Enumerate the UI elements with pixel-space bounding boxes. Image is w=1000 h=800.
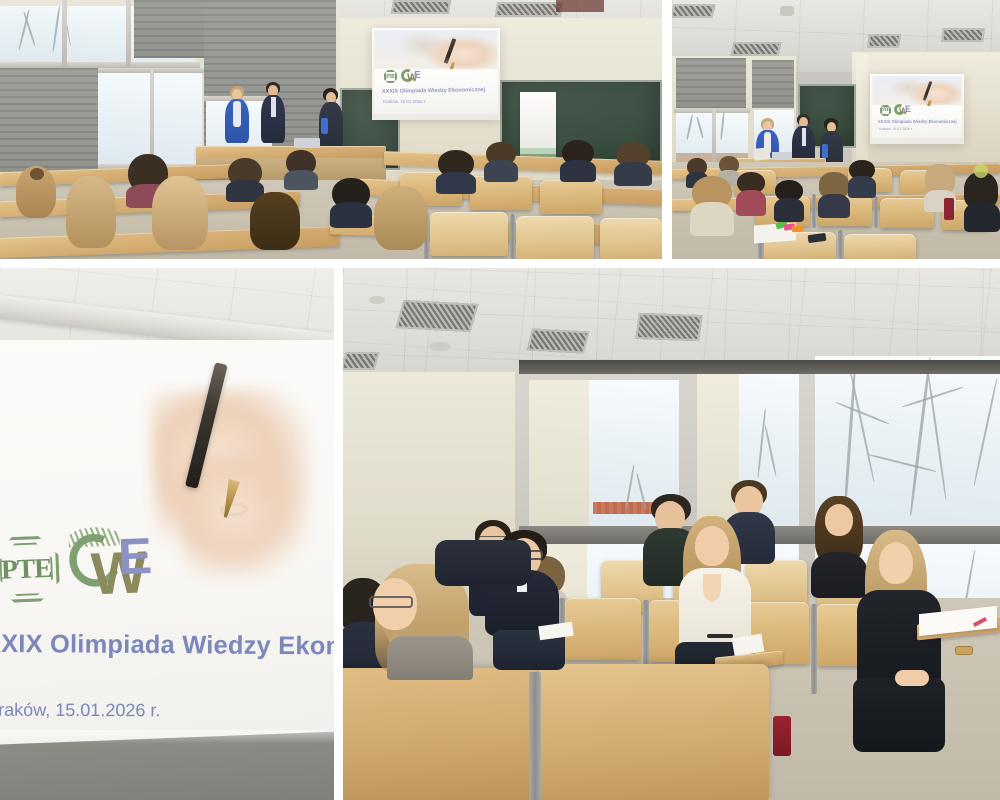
student: [560, 140, 596, 182]
photo-collage: PTE W E XXXIX Olimpiada Wiedzy Ekonomicz…: [0, 0, 1000, 800]
window-mullion: [62, 0, 67, 68]
window-blind: [676, 58, 746, 110]
student: [690, 176, 734, 236]
ceiling-vent-icon: [495, 2, 564, 17]
projected-slide: PTE W E XXXIX Olimpiada Wiedzy Ekonomicz…: [0, 340, 334, 748]
window-blind: [752, 60, 794, 108]
seat-front: [343, 668, 543, 800]
window-blind: [0, 68, 98, 172]
ceiling-vent-icon: [635, 313, 702, 341]
ceiling-vent-icon: [396, 300, 479, 332]
window-mullion: [126, 0, 131, 68]
ceiling-sensor: [429, 342, 451, 351]
presenter-dark-suit: [260, 82, 286, 148]
ceiling-sensor: [780, 6, 794, 16]
seat-front: [539, 664, 769, 800]
dark-trousers: [853, 678, 945, 752]
ceiling-vent-icon: [867, 34, 901, 48]
flipchart: [520, 92, 556, 154]
owe-letter-e: E: [117, 532, 153, 584]
projection-screen: PTE W E XXXIX Olimpiada Wiedzy Ekonomicz…: [372, 28, 500, 120]
student: [330, 178, 372, 228]
student: [848, 160, 876, 198]
laptop: [772, 152, 792, 160]
window-blind: [134, 0, 206, 58]
student: [152, 176, 210, 259]
screen-bottom-edge: [0, 730, 334, 744]
student: [736, 172, 766, 216]
slide-subtitle: Kraków, 15.01.2026 r.: [383, 99, 427, 104]
projection-screen: PTE W E XXXIX Olimpiada Wiedzy Ekonomicz…: [0, 340, 334, 748]
pte-logo: PTE: [0, 535, 60, 603]
ceiling-vent-icon: [527, 328, 590, 353]
student: [14, 166, 60, 236]
student: [818, 172, 850, 218]
grey-scarf: [387, 636, 473, 680]
ceiling-vent-icon: [731, 42, 782, 56]
seat: [600, 218, 662, 259]
collage-panel-bottom-left: PTE W E XXXIX Olimpiada Wiedzy Ekonomicz…: [0, 268, 334, 800]
seat: [516, 216, 594, 259]
seat: [565, 598, 641, 660]
ceiling-vent-icon: [941, 28, 984, 42]
ceiling-fixture: [556, 0, 604, 12]
presenter-dark-jacket: [318, 88, 344, 152]
student-girl-black: [853, 530, 949, 760]
student: [250, 192, 302, 259]
student: [436, 150, 476, 194]
slide-title: XXXIX Olimpiada Wiedzy Ekonomicznej: [382, 87, 485, 95]
highlighter-orange: [792, 226, 803, 233]
collage-panel-bottom-right: [343, 268, 1000, 800]
window-reveal: [529, 380, 589, 528]
window-head: [519, 360, 1000, 374]
seat: [540, 180, 602, 214]
projected-slide: PTE W E XXXIX Olimpiada Wiedzy Ekonomicz…: [872, 76, 962, 138]
projection-screen: PTE W E XXXIX Olimpiada Wiedzy Ekonomicz…: [870, 74, 964, 144]
owe-logo: W E: [66, 525, 164, 607]
student: [484, 142, 518, 182]
ceiling-sensor: [369, 296, 385, 304]
student: [774, 180, 804, 222]
glasses-icon: [369, 596, 413, 608]
student: [614, 142, 652, 186]
student: [284, 150, 318, 190]
slide-title: XXXIX Olimpiada Wiedzy Ekonomicznej: [0, 630, 334, 663]
slide-subtitle: Kraków, 15.01.2026 r.: [0, 700, 160, 722]
student: [964, 172, 1000, 232]
presenter-blue-blazer: [224, 86, 250, 148]
bottle: [944, 198, 954, 220]
hands: [895, 670, 929, 686]
slide-subtitle: Kraków, 15.01.2026 r.: [879, 127, 913, 131]
laptop: [294, 138, 320, 148]
student: [66, 176, 118, 259]
paper: [753, 147, 770, 161]
coat-on-seat: [435, 540, 531, 586]
projected-slide: PTE W E XXXIX Olimpiada Wiedzy Ekonomicz…: [374, 30, 498, 114]
ceiling-vent-icon: [343, 352, 380, 370]
seat: [430, 212, 508, 256]
bag: [974, 164, 988, 178]
collage-panel-top-right: PTE W E XXXIX Olimpiada Wiedzy Ekonomicz…: [672, 0, 1000, 259]
slide-title: XXXIX Olimpiada Wiedzy Ekonomicznej: [878, 119, 957, 124]
student: [374, 186, 430, 259]
wall-pillar: [856, 54, 868, 166]
watch: [707, 634, 733, 638]
pte-logo-text: PTE: [0, 535, 60, 603]
ceiling-vent-icon: [672, 4, 716, 18]
collage-panel-top-left: PTE W E XXXIX Olimpiada Wiedzy Ekonomicz…: [0, 0, 662, 259]
bottle: [773, 716, 791, 756]
smiley-icon: [955, 646, 973, 655]
seat: [844, 234, 916, 259]
ceiling-vent-icon: [391, 0, 451, 14]
